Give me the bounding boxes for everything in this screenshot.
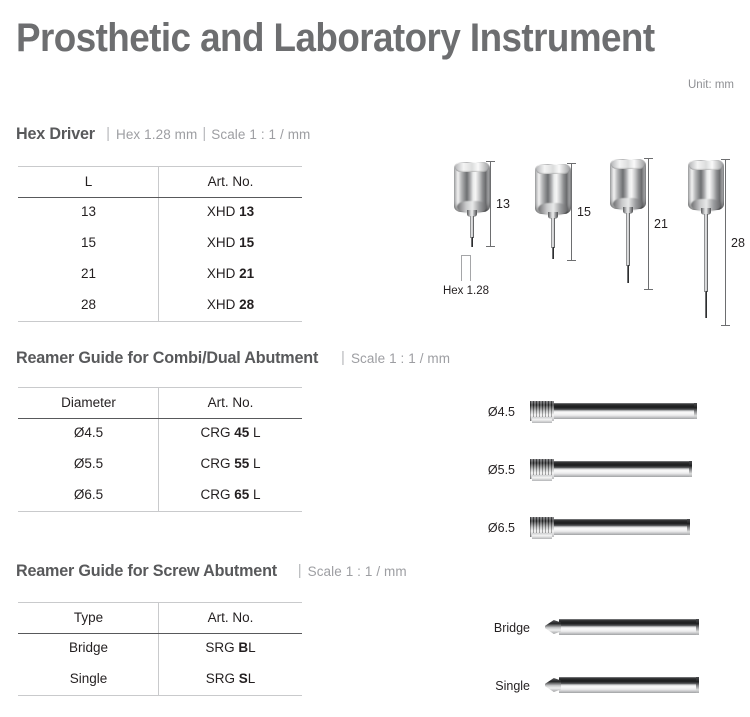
rod-label-bridge: Bridge xyxy=(460,621,530,635)
rod-collar xyxy=(532,533,552,539)
callout-tick-left xyxy=(461,255,462,281)
table-header-rule xyxy=(18,633,302,634)
table-reamer-screw: Type Art. No. Bridge SRG BL Single SRG S… xyxy=(18,602,302,694)
dimension-cap-top xyxy=(644,158,653,159)
table-hex-driver: L Art. No. 13 XHD 13 15 XHD 15 21 XHD 21… xyxy=(18,166,302,320)
rod-label-55: Ø5.5 xyxy=(460,463,515,477)
table-header-rule xyxy=(18,197,302,198)
separator: | xyxy=(291,562,308,579)
rod-body xyxy=(552,519,690,535)
rod-label-45: Ø4.5 xyxy=(460,405,515,419)
art-code: 65 xyxy=(234,487,249,502)
section-meta-scale: Scale 1 : 1 / mm xyxy=(351,351,450,366)
column-header-0: Type xyxy=(18,610,159,625)
section-title: Reamer Guide for Screw Abutment xyxy=(16,561,277,581)
driver-handle xyxy=(688,160,724,210)
column-header-0: L xyxy=(18,174,159,189)
art-suffix: L xyxy=(253,456,261,471)
table-header-row: Type Art. No. xyxy=(18,602,302,632)
art-code: 15 xyxy=(239,235,254,250)
cell-type: Bridge xyxy=(18,640,159,655)
rod-body xyxy=(559,677,699,693)
section-title: Reamer Guide for Combi/Dual Abutment xyxy=(16,348,318,368)
table-header-rule xyxy=(18,418,302,419)
art-code: 21 xyxy=(239,266,254,281)
column-header-1: Art. No. xyxy=(159,395,302,410)
table-bottom-rule xyxy=(18,695,302,696)
table-row: Ø4.5 CRG 45 L xyxy=(18,417,302,448)
art-suffix: L xyxy=(248,671,256,686)
driver-handle xyxy=(454,162,490,212)
art-prefix: XHD xyxy=(207,297,236,312)
illustration-reamer-screw: Bridge Single xyxy=(460,605,750,717)
separator: | xyxy=(99,125,116,142)
section-heading-reamer-screw: Reamer Guide for Screw Abutment|Scale 1 … xyxy=(16,561,407,582)
dimension-value: 28 xyxy=(731,236,745,250)
art-prefix: CRG xyxy=(200,425,230,440)
cell-art-no: XHD 21 xyxy=(159,266,302,281)
illustration-reamer-combi: Ø4.5 Ø5.5 Ø6.5 xyxy=(460,390,750,550)
rod-tip-flare xyxy=(545,678,561,692)
section-heading-hex-driver: Hex Driver|Hex 1.28 mm|Scale 1 : 1 / mm xyxy=(16,124,310,145)
rod-tip-flare xyxy=(545,620,561,634)
art-suffix: L xyxy=(248,640,256,655)
catalog-page: Prosthetic and Laboratory Instrument Uni… xyxy=(0,0,750,717)
dimension-value: 13 xyxy=(496,197,510,211)
table-bottom-rule xyxy=(18,321,302,322)
section-heading-reamer-combi: Reamer Guide for Combi/Dual Abutment|Sca… xyxy=(16,348,450,369)
column-header-1: Art. No. xyxy=(159,174,302,189)
dimension-value: 21 xyxy=(654,217,668,231)
driver-handle xyxy=(610,159,646,209)
callout-label: Hex 1.28 xyxy=(443,285,489,297)
section-title: Hex Driver xyxy=(16,124,95,144)
unit-label: Unit: mm xyxy=(688,79,734,91)
driver-shaft xyxy=(470,216,474,238)
rod-body xyxy=(559,619,699,635)
cell-art-no: CRG 65 L xyxy=(159,487,302,502)
driver-tip xyxy=(552,247,554,259)
cell-length: 15 xyxy=(18,235,159,250)
art-prefix: CRG xyxy=(200,456,230,471)
table-row: 28 XHD 28 xyxy=(18,289,302,320)
art-prefix: CRG xyxy=(200,487,230,502)
section-meta-hex: Hex 1.28 mm xyxy=(116,127,197,142)
column-header-1: Art. No. xyxy=(159,610,302,625)
cell-type: Single xyxy=(18,671,159,686)
illustration-hex-drivers: 13 Hex 1.28 15 xyxy=(440,150,750,340)
table-row: 15 XHD 15 xyxy=(18,227,302,258)
art-suffix: L xyxy=(253,425,261,440)
table-column-divider xyxy=(158,603,159,695)
cell-art-no: XHD 13 xyxy=(159,204,302,219)
dimension-cap-top xyxy=(486,161,495,162)
table-top-rule xyxy=(18,166,302,167)
section-meta-scale: Scale 1 : 1 / mm xyxy=(211,127,310,142)
table-column-divider xyxy=(158,167,159,321)
dimension-cap-bottom xyxy=(644,289,653,290)
table-header-row: L Art. No. xyxy=(18,166,302,196)
table-row: 21 XHD 21 xyxy=(18,258,302,289)
rod-collar xyxy=(532,475,552,481)
separator: | xyxy=(334,349,351,366)
cell-art-no: XHD 15 xyxy=(159,235,302,250)
dimension-line xyxy=(725,159,726,326)
art-code: 55 xyxy=(234,456,249,471)
cell-art-no: XHD 28 xyxy=(159,297,302,312)
column-header-0: Diameter xyxy=(18,395,159,410)
cell-length: 13 xyxy=(18,204,159,219)
dimension-line xyxy=(648,158,649,290)
page-title: Prosthetic and Laboratory Instrument xyxy=(16,14,655,62)
rod-label-65: Ø6.5 xyxy=(460,521,515,535)
table-bottom-rule xyxy=(18,511,302,512)
art-prefix: SRG xyxy=(205,640,234,655)
art-code: 13 xyxy=(239,204,254,219)
dimension-cap-top xyxy=(567,163,576,164)
cell-length: 28 xyxy=(18,297,159,312)
art-prefix: XHD xyxy=(207,204,236,219)
driver-shaft xyxy=(551,218,555,248)
driver-tip xyxy=(705,291,707,318)
driver-tip xyxy=(627,265,629,283)
dimension-cap-bottom xyxy=(486,246,495,247)
table-row: Bridge SRG BL xyxy=(18,632,302,663)
dimension-line xyxy=(490,161,491,247)
dimension-cap-bottom xyxy=(567,260,576,261)
dimension-cap-bottom xyxy=(721,325,730,326)
cell-diameter: Ø5.5 xyxy=(18,456,159,471)
driver-shaft xyxy=(626,213,630,266)
rod-body xyxy=(552,461,692,477)
art-prefix: SRG xyxy=(206,671,235,686)
table-row: Ø6.5 CRG 65 L xyxy=(18,479,302,510)
cell-diameter: Ø6.5 xyxy=(18,487,159,502)
cell-diameter: Ø4.5 xyxy=(18,425,159,440)
driver-shaft xyxy=(704,214,708,292)
table-header-row: Diameter Art. No. xyxy=(18,387,302,417)
table-row: 13 XHD 13 xyxy=(18,196,302,227)
cell-art-no: SRG SL xyxy=(159,671,302,686)
dimension-line xyxy=(571,163,572,261)
rod-collar xyxy=(532,417,552,423)
separator: | xyxy=(197,125,211,142)
art-code: 45 xyxy=(234,425,249,440)
cell-art-no: CRG 45 L xyxy=(159,425,302,440)
dimension-value: 15 xyxy=(577,205,591,219)
art-prefix: XHD xyxy=(207,266,236,281)
rod-label-single: Single xyxy=(460,679,530,693)
cell-art-no: CRG 55 L xyxy=(159,456,302,471)
table-column-divider xyxy=(158,388,159,511)
art-code: S xyxy=(239,671,248,686)
driver-tip xyxy=(471,237,473,247)
art-code: B xyxy=(238,640,248,655)
table-reamer-combi: Diameter Art. No. Ø4.5 CRG 45 L Ø5.5 CRG… xyxy=(18,387,302,510)
cell-art-no: SRG BL xyxy=(159,640,302,655)
art-suffix: L xyxy=(253,487,261,502)
table-row: Single SRG SL xyxy=(18,663,302,694)
table-top-rule xyxy=(18,387,302,388)
callout-tick-right xyxy=(470,255,471,281)
driver-handle xyxy=(535,164,571,214)
dimension-cap-top xyxy=(721,159,730,160)
table-top-rule xyxy=(18,602,302,603)
art-code: 28 xyxy=(239,297,254,312)
cell-length: 21 xyxy=(18,266,159,281)
section-meta-scale: Scale 1 : 1 / mm xyxy=(308,564,407,579)
rod-body xyxy=(552,403,697,419)
art-prefix: XHD xyxy=(207,235,236,250)
table-row: Ø5.5 CRG 55 L xyxy=(18,448,302,479)
